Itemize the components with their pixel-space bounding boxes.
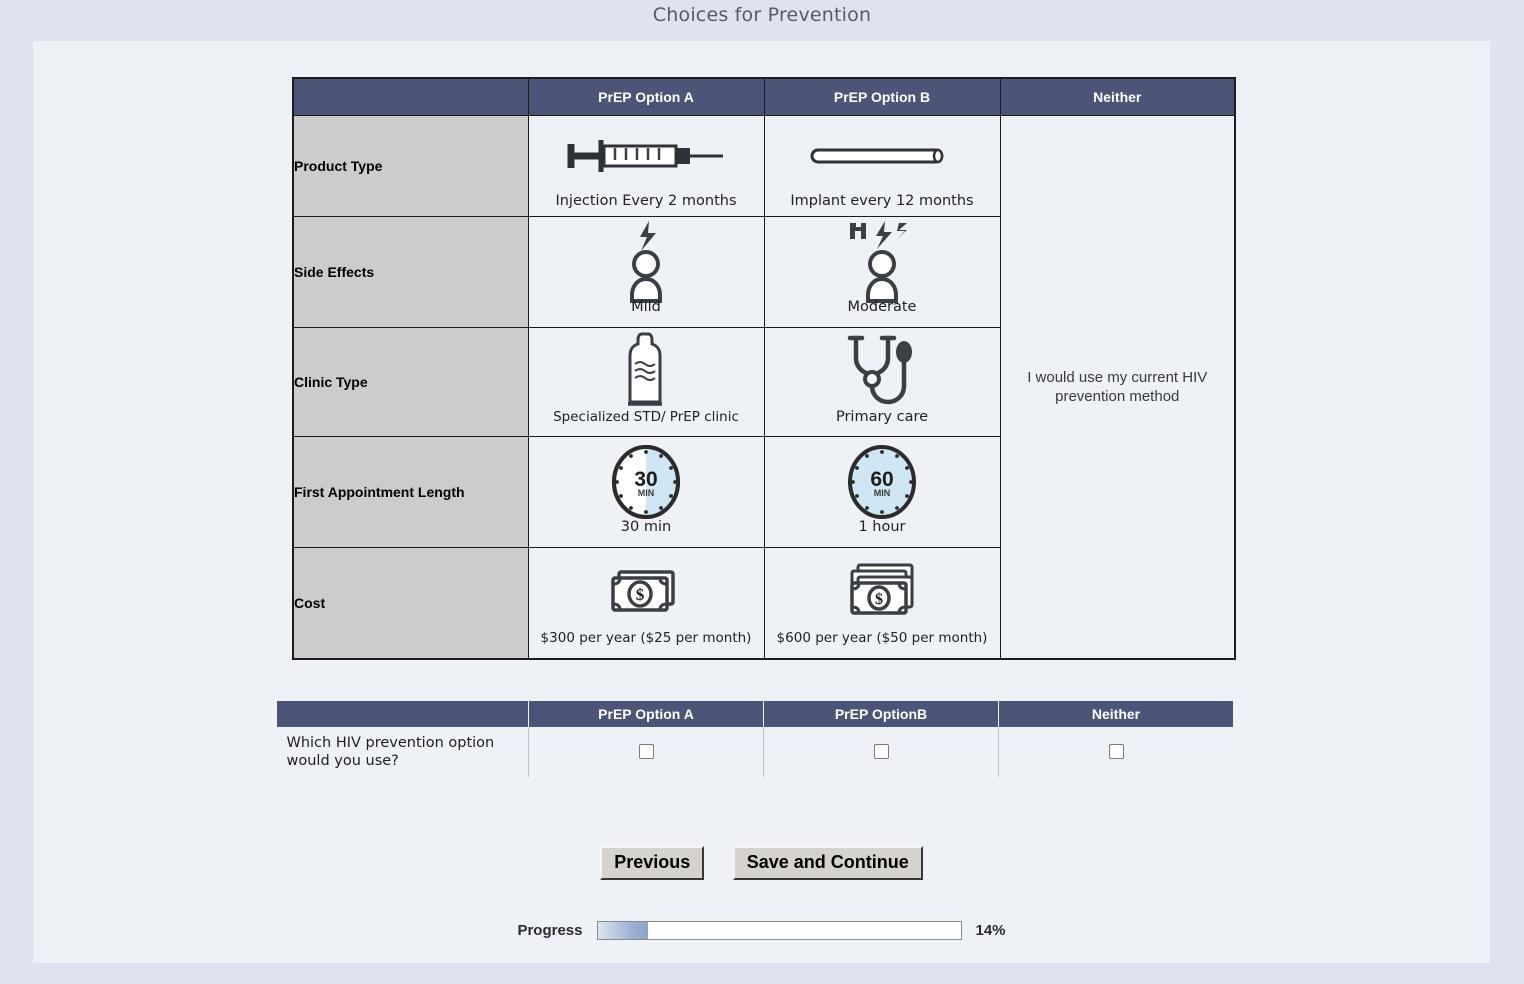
value-cost-option-a: $300 per year ($25 per month) [529,630,764,650]
row-label-side-effects: Side Effects [293,217,528,328]
value-clinic-type-option-b: Primary care [765,409,1000,429]
attr-header-blank [293,78,528,116]
navigation-button-row: Previous Save and Continue [33,846,1490,880]
cell-clinic-type-option-a: Specialized STD/ PrEP clinic [528,328,764,437]
clock-a-unit: MIN [638,488,655,498]
stethoscope-icon [765,335,1000,409]
cell-product-type-option-a: Injection Every 2 months [528,116,764,217]
choice-header-neither: Neither [999,701,1234,727]
clock-60-min-icon: 60 MIN [765,445,1000,519]
condom-icon [529,335,764,409]
choice-question-table: PrEP Option A PrEP OptionB Neither Which… [276,701,1234,777]
choice-table-header-row: PrEP Option A PrEP OptionB Neither [277,701,1234,727]
implant-rod-icon [765,119,1000,193]
save-and-continue-button[interactable]: Save and Continue [733,846,923,880]
cell-clinic-type-option-b: Primary care [764,328,1000,437]
value-cost-option-b: $600 per year ($50 per month) [765,630,1000,650]
choice-cell-option-b[interactable] [764,727,999,777]
table-row-product-type: Product Type [293,116,1235,217]
value-side-effects-option-b: Moderate [765,299,1000,319]
row-label-first-appointment-length: First Appointment Length [293,437,528,548]
stack-of-banknotes-icon: $ [765,556,1000,630]
previous-button[interactable]: Previous [600,846,704,880]
choice-header-blank [277,701,529,727]
cell-side-effects-option-a: Mild [528,217,764,328]
progress-label: Progress [517,922,582,939]
person-moderate-side-effect-icon [765,225,1000,299]
content-panel: PrEP Option A PrEP Option B Neither Prod… [33,41,1490,963]
progress-row: Progress 14% [33,921,1490,940]
value-clinic-type-option-a: Specialized STD/ PrEP clinic [529,409,764,429]
person-mild-side-effect-icon [529,225,764,299]
progress-percent-text: 14% [976,922,1006,939]
clock-30-min-icon: 30 MIN [529,445,764,519]
cell-product-type-option-b: Implant every 12 months [764,116,1000,217]
cell-cost-option-a: $ $300 per year ($25 per month) [528,548,764,660]
attribute-comparison-table: PrEP Option A PrEP Option B Neither Prod… [292,77,1236,660]
checkbox-neither[interactable] [1109,744,1124,759]
attr-header-option-b: PrEP Option B [764,78,1000,116]
choice-header-option-b: PrEP OptionB [764,701,999,727]
choice-cell-option-a[interactable] [529,727,764,777]
progress-bar-fill [598,922,649,939]
value-appointment-option-a: 30 min [529,519,764,539]
checkbox-prep-option-a[interactable] [639,744,654,759]
value-product-type-option-a: Injection Every 2 months [529,193,764,213]
page-title: Choices for Prevention [0,0,1524,26]
cell-side-effects-option-b: Moderate [764,217,1000,328]
value-appointment-option-b: 1 hour [765,519,1000,539]
clock-b-unit: MIN [874,488,891,498]
choice-header-option-a: PrEP Option A [529,701,764,727]
choice-question-text: Which HIV prevention option would you us… [277,727,529,777]
single-banknote-icon: $ [529,556,764,630]
row-label-cost: Cost [293,548,528,660]
syringe-icon [529,119,764,193]
svg-text:$: $ [875,591,883,608]
cell-appointment-option-a: 30 MIN 30 min [528,437,764,548]
checkbox-prep-option-b[interactable] [874,744,889,759]
progress-bar [597,921,962,940]
choice-cell-neither[interactable] [999,727,1234,777]
cell-cost-option-b: $ $600 per year ($50 per month) [764,548,1000,660]
row-label-product-type: Product Type [293,116,528,217]
row-label-clinic-type: Clinic Type [293,328,528,437]
attribute-table-header-row: PrEP Option A PrEP Option B Neither [293,78,1235,116]
cell-neither-description: I would use my current HIV prevention me… [1000,116,1235,660]
svg-text:$: $ [636,585,645,604]
value-side-effects-option-a: Mild [529,299,764,319]
value-product-type-option-b: Implant every 12 months [765,193,1000,213]
attr-header-neither: Neither [1000,78,1235,116]
choice-table-row: Which HIV prevention option would you us… [277,727,1234,777]
cell-appointment-option-b: 60 MIN 1 hour [764,437,1000,548]
attr-header-option-a: PrEP Option A [528,78,764,116]
